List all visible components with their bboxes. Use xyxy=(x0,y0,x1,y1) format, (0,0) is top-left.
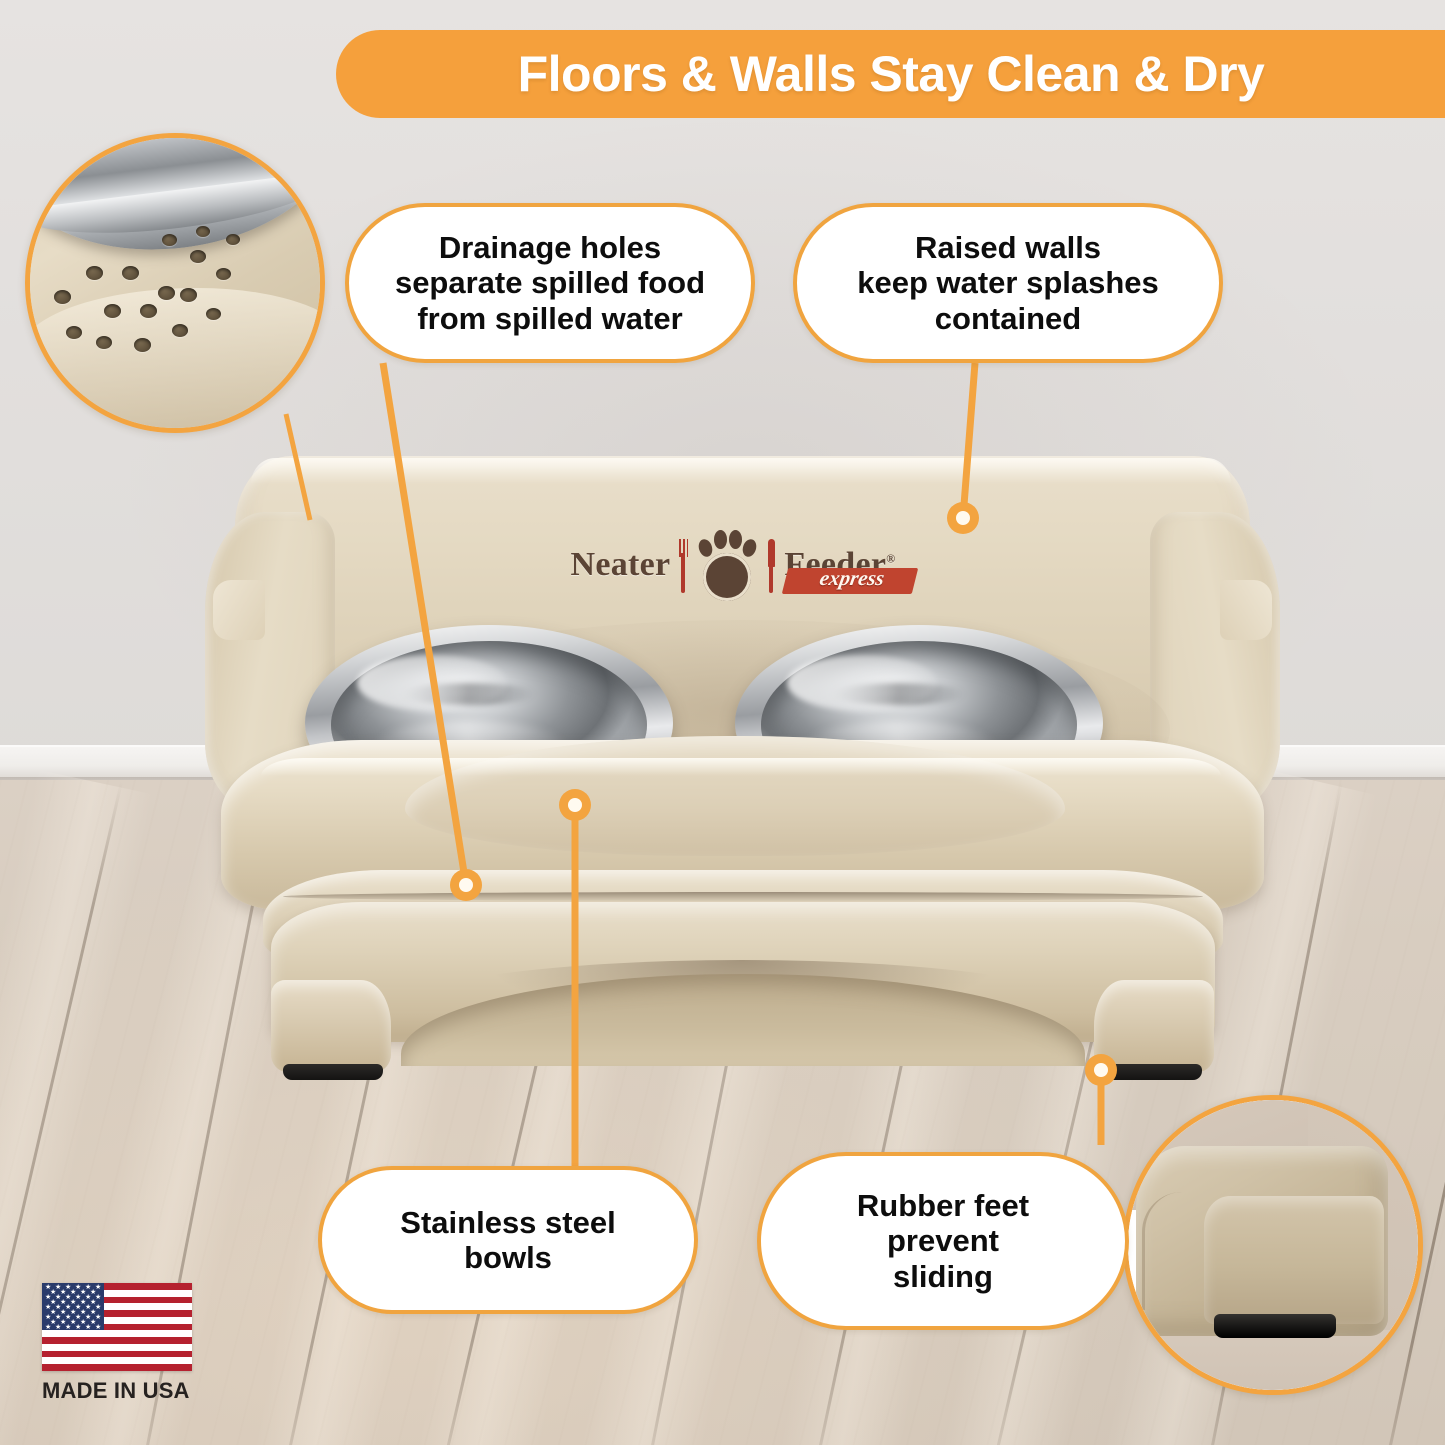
callout-text: Raised walls keep water splashes contain… xyxy=(841,230,1175,336)
callout-text: Stainless steel bowls xyxy=(384,1205,631,1276)
infographic-canvas: Neater Feeder® express xyxy=(0,0,1445,1445)
drainage-hole xyxy=(162,234,177,246)
flag-canton: ★★★★★★★★★★★★★★★★★★★★★★★★★★★★★★★★★★★★★★★★… xyxy=(42,1283,104,1330)
drainage-hole xyxy=(196,226,210,237)
usa-flag-icon: ★★★★★★★★★★★★★★★★★★★★★★★★★★★★★★★★★★★★★★★★… xyxy=(42,1283,192,1371)
flag-star: ★ xyxy=(85,1325,90,1330)
drainage-hole xyxy=(66,326,82,339)
drainage-hole xyxy=(140,304,157,318)
flag-star: ★ xyxy=(55,1325,60,1330)
leader-raised-walls xyxy=(963,363,975,518)
closeup-rubber-pad xyxy=(1214,1314,1336,1338)
callout-drainage-holes: Drainage holes separate spilled food fro… xyxy=(345,203,755,363)
flag-stripe xyxy=(42,1351,192,1358)
leader-drainage xyxy=(383,363,466,885)
drainage-hole xyxy=(206,308,221,320)
drainage-hole xyxy=(216,268,231,280)
flag-star: ★ xyxy=(95,1325,100,1330)
drainage-hole xyxy=(180,288,197,302)
flag-star: ★ xyxy=(65,1325,70,1330)
callout-text: Drainage holes separate spilled food fro… xyxy=(379,230,721,336)
made-in-usa-label: MADE IN USA xyxy=(42,1378,202,1404)
flag-stripe xyxy=(42,1364,192,1371)
drainage-hole xyxy=(158,286,175,300)
flag-star: ★ xyxy=(75,1325,80,1330)
closeup-tray-contour xyxy=(25,288,325,433)
drainage-hole xyxy=(122,266,139,280)
closeup-leg-seam xyxy=(1142,1192,1234,1310)
callout-raised-walls: Raised walls keep water splashes contain… xyxy=(793,203,1223,363)
drainage-hole xyxy=(134,338,151,352)
drainage-hole xyxy=(226,234,240,245)
drainage-hole xyxy=(190,250,206,263)
flag-stripe xyxy=(42,1337,192,1344)
drainage-hole xyxy=(86,266,103,280)
leader-inset-drainage xyxy=(286,414,310,520)
drainage-hole xyxy=(54,290,71,304)
made-in-usa-badge: ★★★★★★★★★★★★★★★★★★★★★★★★★★★★★★★★★★★★★★★★… xyxy=(42,1283,202,1404)
callout-stainless-steel-bowls: Stainless steel bowls xyxy=(318,1166,698,1314)
rubber-foot-closeup-inset xyxy=(1123,1095,1423,1395)
callout-text: Rubber feet prevent sliding xyxy=(841,1188,1045,1294)
drainage-hole xyxy=(104,304,121,318)
drainage-hole xyxy=(96,336,112,349)
callout-rubber-feet: Rubber feet prevent sliding xyxy=(757,1152,1129,1330)
drainage-holes-closeup-inset xyxy=(25,133,325,433)
closeup-floor-bottom xyxy=(1123,1330,1423,1395)
drainage-hole xyxy=(172,324,188,337)
flag-star: ★ xyxy=(45,1325,50,1330)
